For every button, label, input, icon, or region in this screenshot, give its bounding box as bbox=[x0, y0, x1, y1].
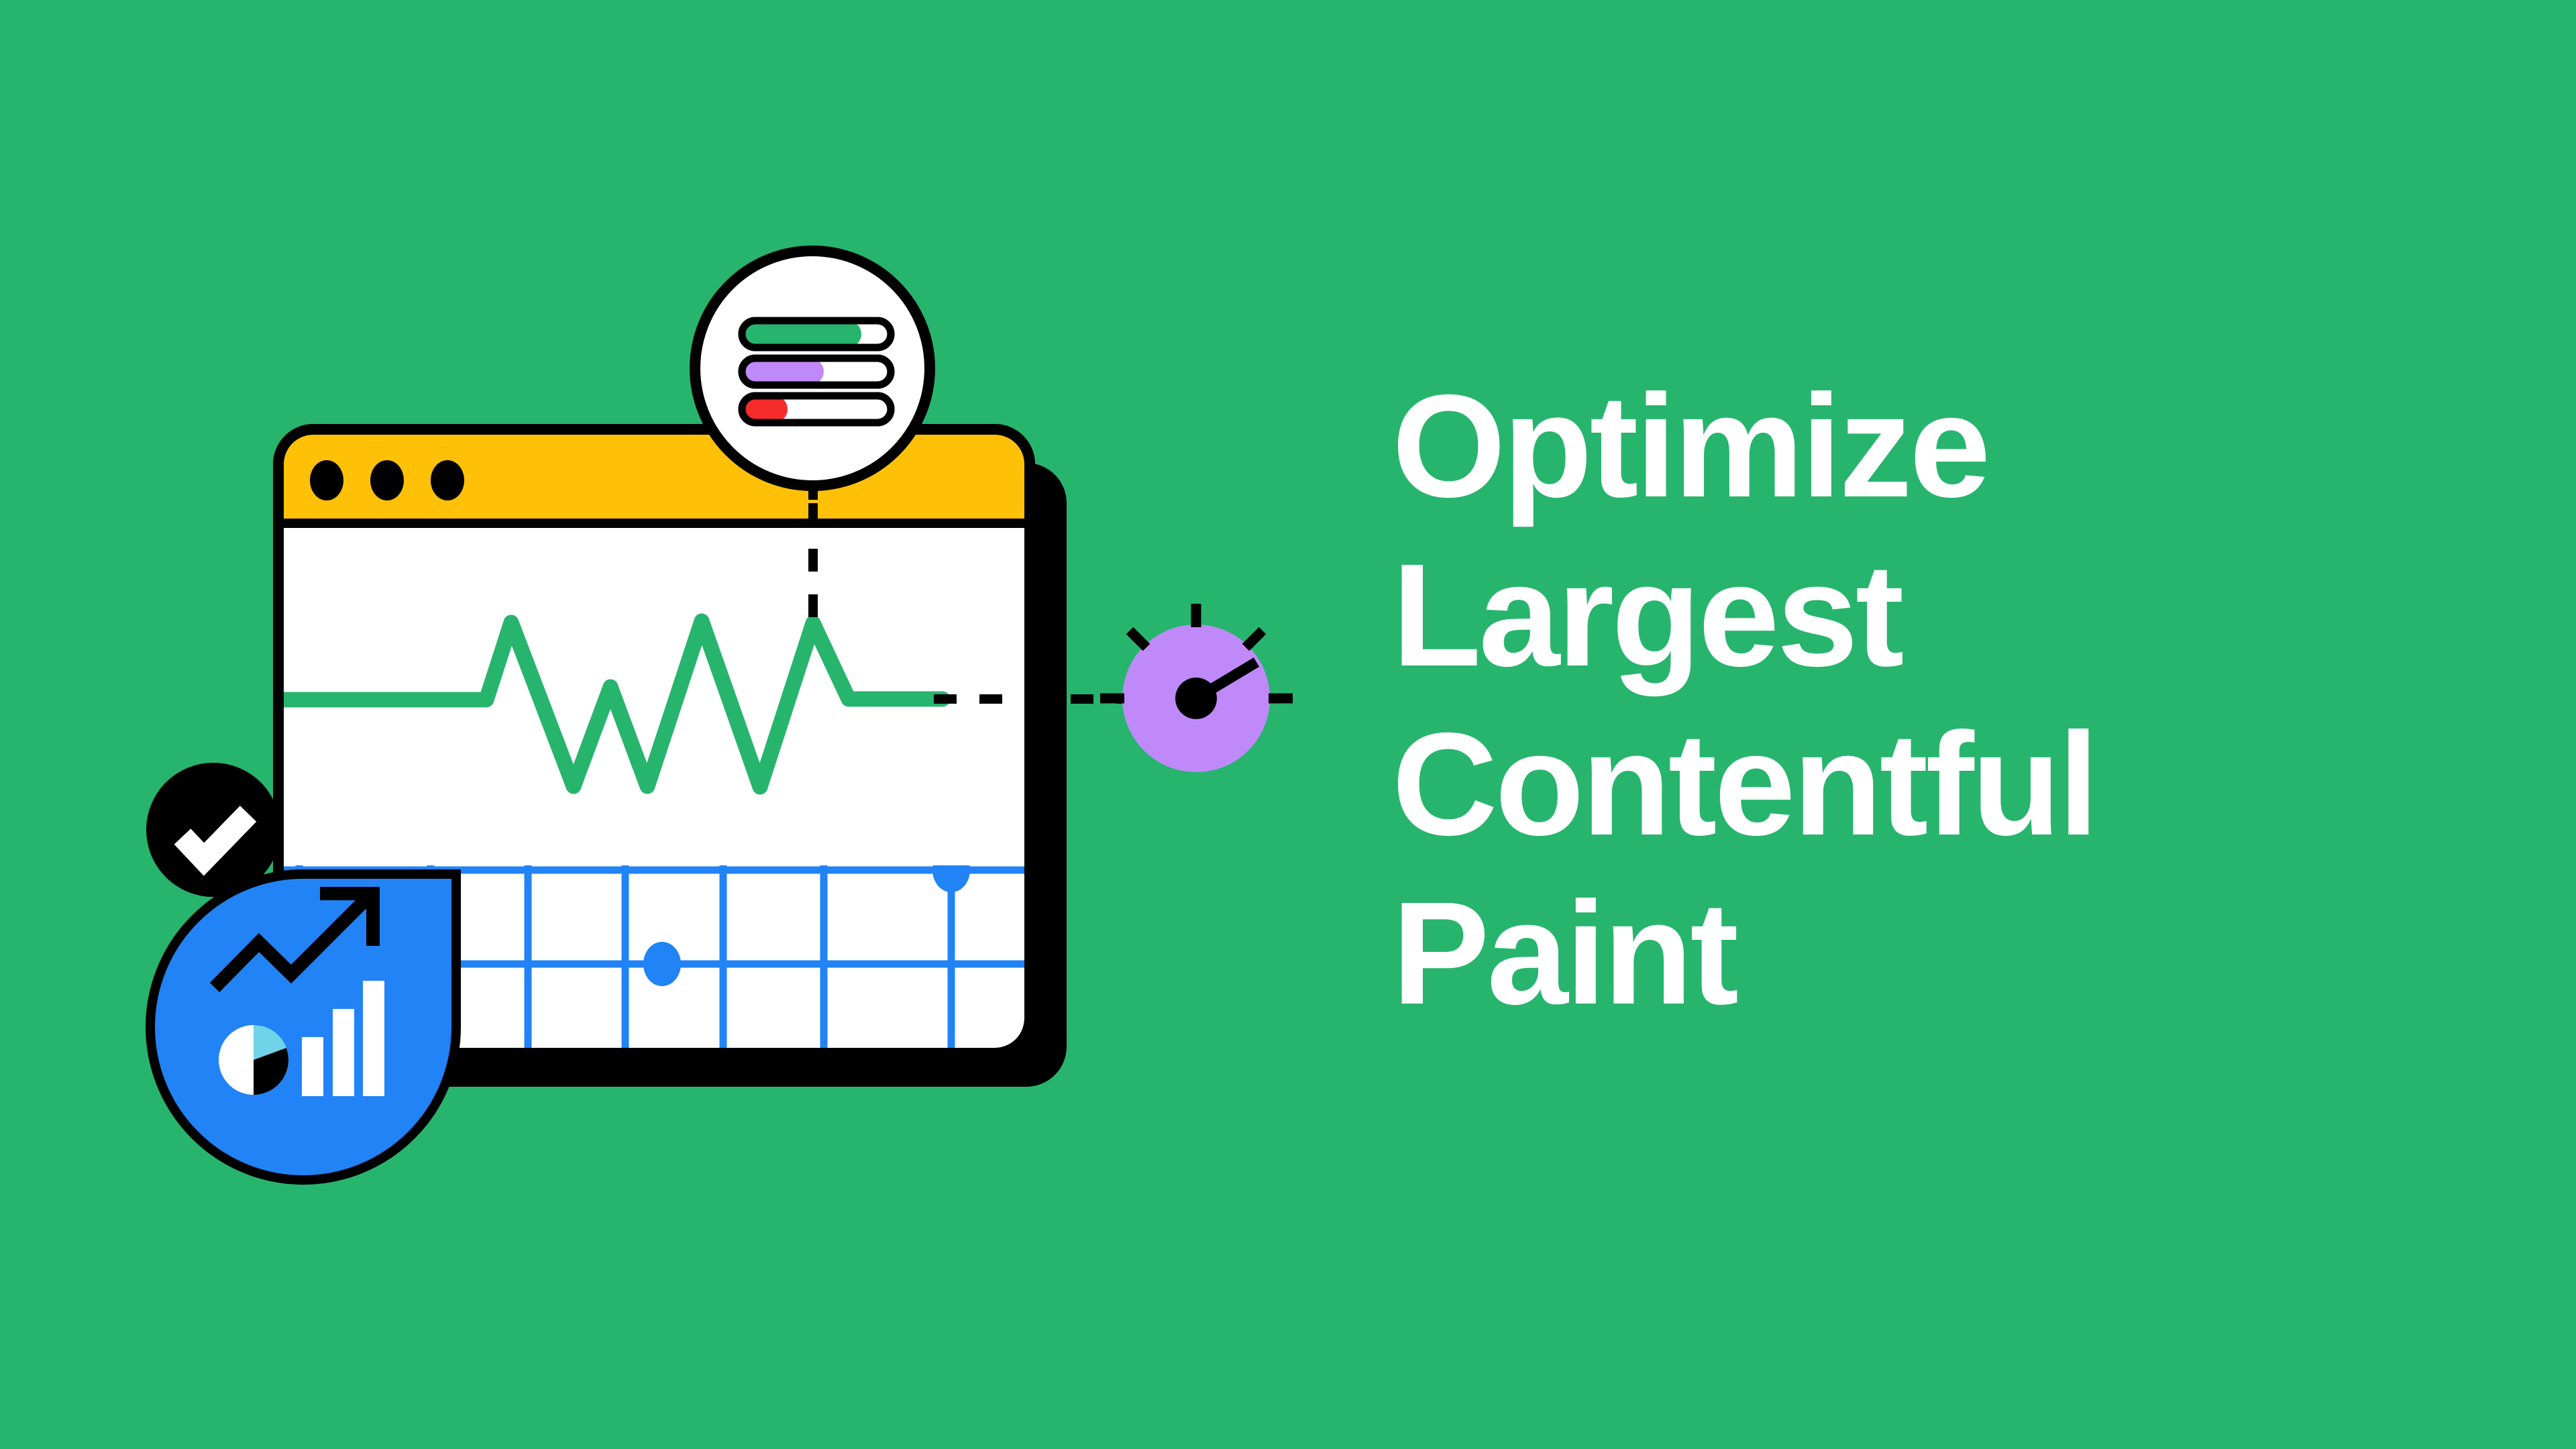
grid-data-point[interactable] bbox=[643, 942, 681, 986]
page-title-line-3: Contentful bbox=[1392, 700, 2331, 869]
poor-metric-bar bbox=[742, 396, 891, 423]
analytics-badge-fill bbox=[150, 874, 456, 1180]
analytics-bar bbox=[363, 981, 384, 1096]
page-title: Optimize Largest Contentful Paint bbox=[1392, 362, 2331, 1038]
illustration-stage: Optimize Largest Contentful Paint bbox=[0, 0, 2576, 1449]
medium-metric-bar bbox=[742, 358, 891, 385]
good-metric-bar bbox=[742, 321, 891, 347]
speed-gauge[interactable] bbox=[1100, 604, 1293, 772]
window-dot-minimize[interactable] bbox=[370, 460, 404, 500]
gauge-tick bbox=[1130, 631, 1146, 647]
gauge-hub bbox=[1175, 678, 1217, 719]
pie-chart-icon bbox=[219, 1025, 288, 1095]
window-dot-maximize[interactable] bbox=[431, 460, 464, 500]
gauge-tick bbox=[1246, 631, 1263, 647]
analytics-bar bbox=[302, 1037, 323, 1096]
page-title-line-1: Optimize bbox=[1392, 362, 2331, 531]
analytics-badge[interactable] bbox=[150, 874, 460, 1180]
analytics-bar bbox=[333, 1009, 354, 1096]
medium-metric-bar-fill bbox=[742, 358, 824, 385]
window-controls[interactable] bbox=[310, 460, 464, 500]
page-title-line-4: Paint bbox=[1392, 869, 2331, 1038]
page-title-line-2: Largest bbox=[1392, 531, 2331, 700]
good-metric-bar-fill bbox=[742, 321, 861, 347]
window-dot-close[interactable] bbox=[310, 460, 343, 500]
